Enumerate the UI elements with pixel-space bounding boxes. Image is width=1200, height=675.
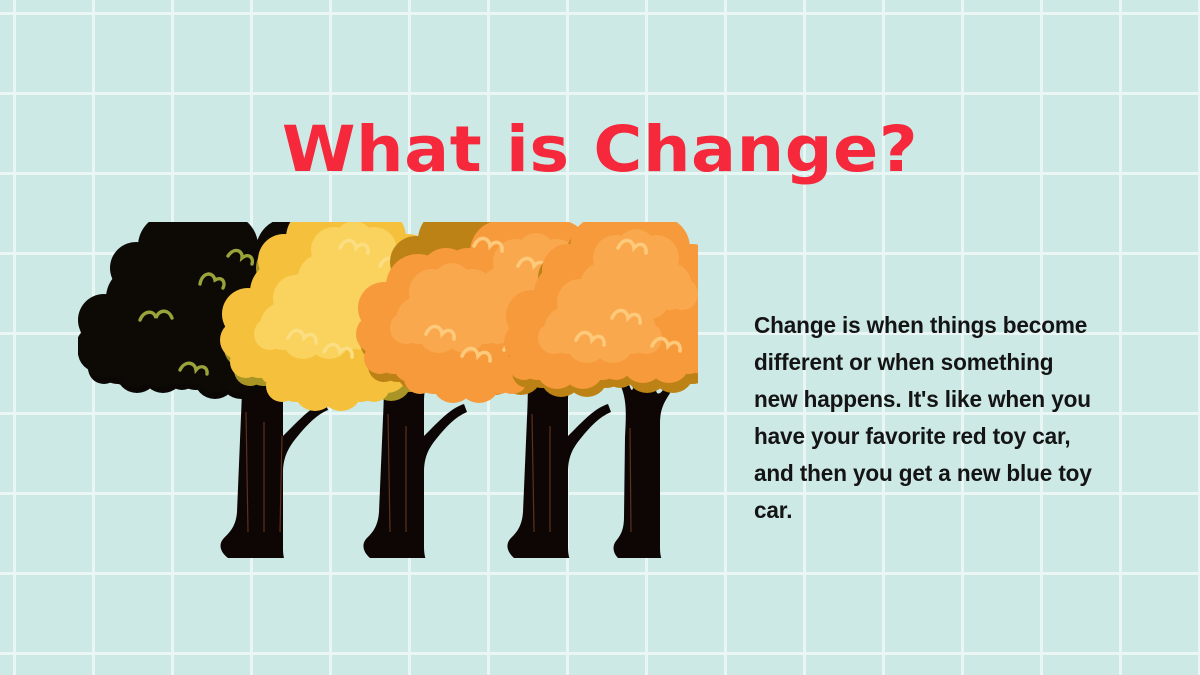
body-paragraph: Change is when things become different o…	[754, 307, 1092, 529]
page-title: What is Change?	[0, 118, 1200, 181]
slide-canvas: What is Change? Change is when things be…	[0, 0, 1200, 675]
tree-illustration	[78, 222, 698, 558]
